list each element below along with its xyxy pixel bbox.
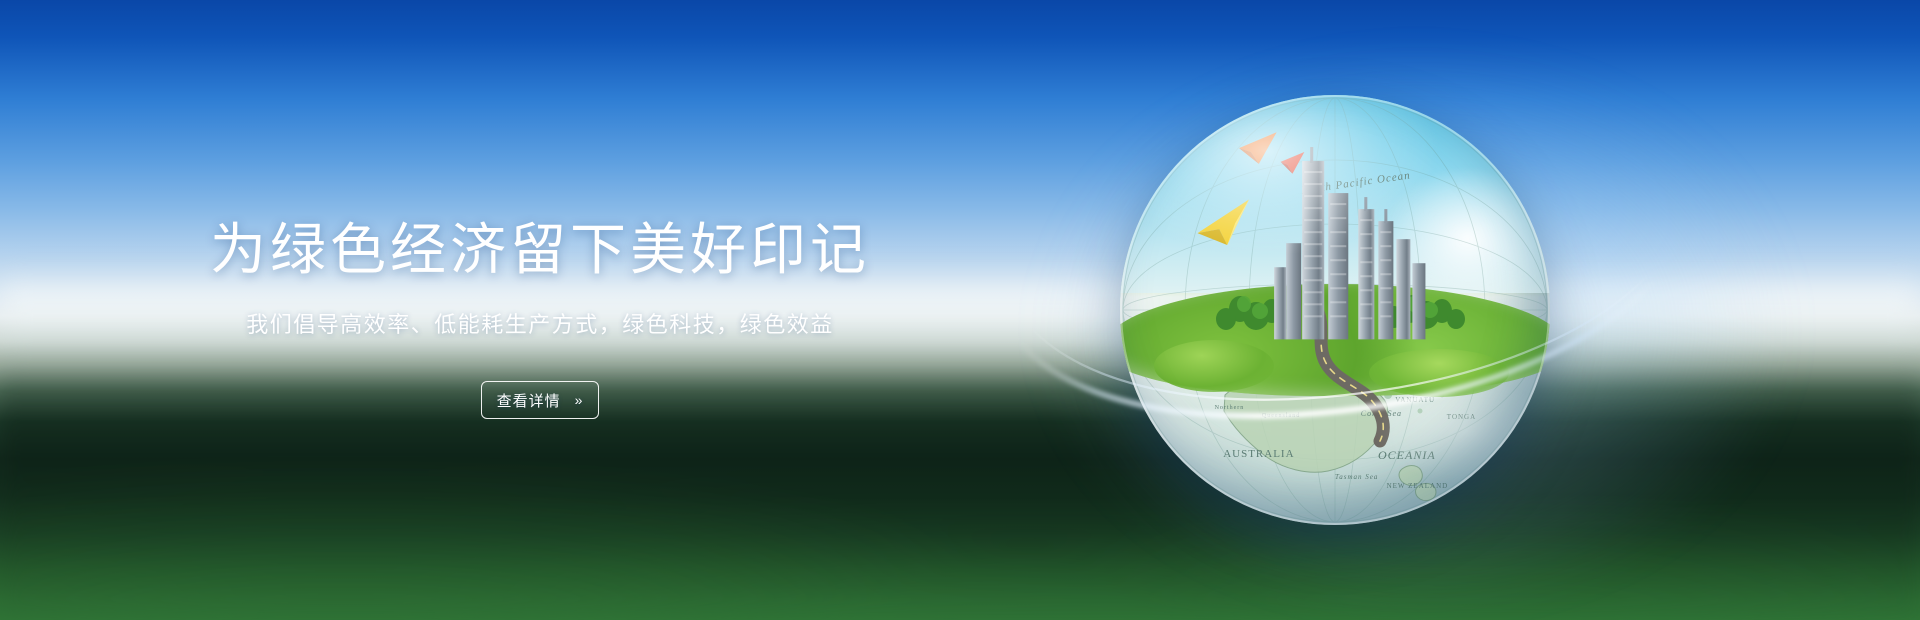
view-details-button[interactable]: 查看详情 » [481, 381, 599, 419]
paper-plane-icons [1154, 129, 1352, 310]
chevron-right-icon: » [575, 393, 584, 407]
globe-sphere: North Pacific OceanSOLOMONISLANDSVANUATU… [1120, 95, 1550, 525]
hero-copy-block: 为绿色经济留下美好印记 我们倡导高效率、低能耗生产方式，绿色科技，绿色效益 查看… [0, 0, 1080, 620]
hero-headline: 为绿色经济留下美好印记 [210, 219, 870, 281]
view-details-label: 查看详情 [497, 390, 561, 411]
eco-globe-illustration: North Pacific OceanSOLOMONISLANDSVANUATU… [1120, 95, 1550, 525]
hero-banner: 为绿色经济留下美好印记 我们倡导高效率、低能耗生产方式，绿色科技，绿色效益 查看… [0, 0, 1920, 620]
hero-subheadline: 我们倡导高效率、低能耗生产方式，绿色科技，绿色效益 [246, 311, 834, 340]
